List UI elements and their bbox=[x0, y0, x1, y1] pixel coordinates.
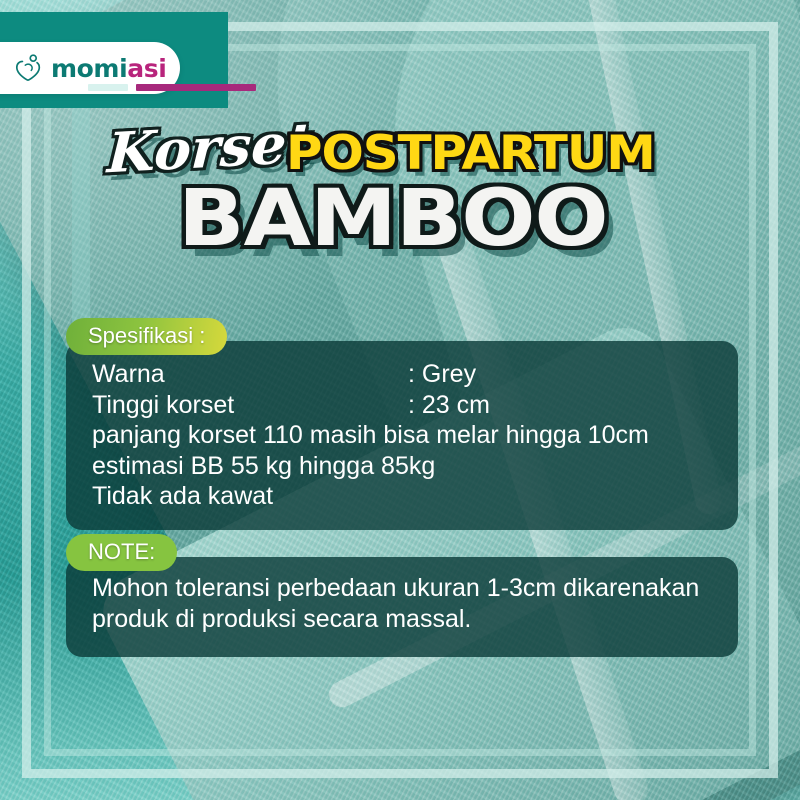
headline-highlight-word: POSTPARTUM bbox=[286, 130, 655, 177]
note-badge: NOTE: bbox=[66, 534, 177, 571]
brand-accent-bars bbox=[88, 84, 256, 91]
mother-and-baby-icon bbox=[14, 53, 44, 83]
brand-wordmark: momiasi bbox=[51, 56, 166, 81]
brand-accent-bar-light bbox=[88, 84, 128, 91]
note-panel: Mohon toleransi perbedaan ukuran 1-3cm d… bbox=[66, 557, 738, 657]
headline-main-word: BAMBOO bbox=[178, 180, 608, 258]
spec-detail-line: Tidak ada kawat bbox=[92, 481, 712, 512]
specifications-block: Spesifikasi : Warna : Grey Tinggi korset… bbox=[66, 318, 738, 530]
spec-row-key: Warna bbox=[92, 359, 408, 390]
headline-line-1: Korset POSTPARTUM bbox=[96, 118, 716, 182]
brand-accent-bar-magenta bbox=[136, 84, 256, 91]
specifications-badge: Spesifikasi : bbox=[66, 318, 227, 355]
headline-group: Korset POSTPARTUM BAMBOO bbox=[96, 118, 716, 182]
spec-row: Tinggi korset : 23 cm bbox=[92, 390, 712, 421]
product-poster: momiasi Korset POSTPARTUM BAMBOO Spesifi… bbox=[0, 0, 800, 800]
brand-name-part1: momi bbox=[51, 54, 127, 83]
specifications-panel: Warna : Grey Tinggi korset : 23 cm panja… bbox=[66, 341, 738, 530]
headline-script-word: Korset bbox=[106, 115, 313, 181]
spec-detail-line: panjang korset 110 masih bisa melar hing… bbox=[92, 420, 712, 451]
spec-row: Warna : Grey bbox=[92, 359, 712, 390]
note-text-line: Mohon toleransi perbedaan ukuran 1-3cm d… bbox=[92, 573, 712, 604]
spec-row-key: Tinggi korset bbox=[92, 390, 408, 421]
brand-name-part2: asi bbox=[127, 54, 166, 83]
brand-panel: momiasi bbox=[0, 12, 228, 108]
spec-detail-line: estimasi BB 55 kg hingga 85kg bbox=[92, 451, 712, 482]
spec-row-value: : 23 cm bbox=[408, 390, 712, 421]
spec-row-value: : Grey bbox=[408, 359, 712, 390]
note-block: NOTE: Mohon toleransi perbedaan ukuran 1… bbox=[66, 534, 738, 657]
note-text-line: produk di produksi secara massal. bbox=[92, 604, 712, 635]
